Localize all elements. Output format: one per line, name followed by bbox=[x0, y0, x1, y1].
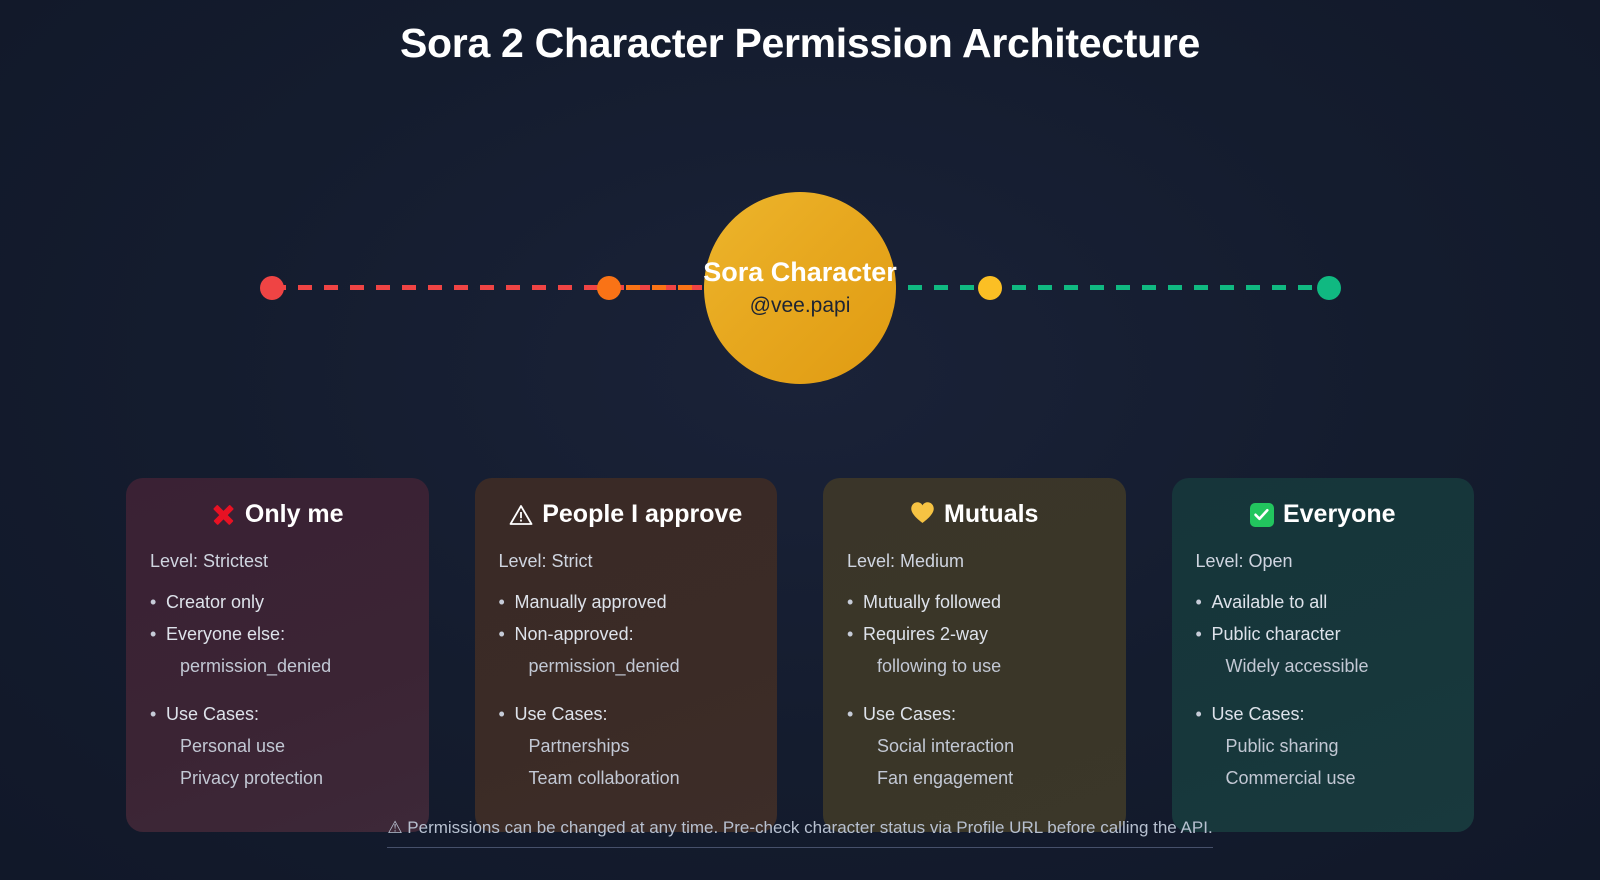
timeline-segment-green bbox=[960, 285, 1332, 290]
warning-triangle-icon bbox=[509, 503, 533, 527]
card-list-item: Personal use bbox=[150, 730, 405, 762]
yellow-heart-icon bbox=[910, 501, 935, 529]
green-check-icon bbox=[1250, 503, 1274, 527]
card-list-item: Team collaboration bbox=[499, 762, 754, 794]
card-list-item: Social interaction bbox=[847, 730, 1102, 762]
card-level: Level: Open bbox=[1196, 551, 1451, 572]
card-list-item: Everyone else: bbox=[150, 618, 405, 650]
card-title: Everyone bbox=[1283, 500, 1396, 529]
card-list-item: Commercial use bbox=[1196, 762, 1451, 794]
card-level: Level: Strictest bbox=[150, 551, 405, 572]
card-list-item: following to use bbox=[847, 650, 1102, 682]
permission-timeline: Sora Character @vee.papi bbox=[0, 0, 1600, 470]
card-feature-list: Creator onlyEveryone else:permission_den… bbox=[150, 586, 405, 794]
card-header: Mutuals bbox=[847, 500, 1102, 529]
permission-card-mutuals[interactable]: MutualsLevel: MediumMutually followedReq… bbox=[823, 478, 1126, 832]
card-header: Everyone bbox=[1196, 500, 1451, 529]
diagram-canvas: Sora 2 Character Permission Architecture… bbox=[0, 0, 1600, 880]
sora-character-orb[interactable]: Sora Character @vee.papi bbox=[704, 192, 896, 384]
card-feature-list: Manually approvedNon-approved:permission… bbox=[499, 586, 754, 794]
permission-card-people-i-approve[interactable]: People I approveLevel: StrictManually ap… bbox=[475, 478, 778, 832]
card-list-item: Creator only bbox=[150, 586, 405, 618]
timeline-node-people-approve[interactable] bbox=[597, 276, 621, 300]
footer-note: ⚠ Permissions can be changed at any time… bbox=[0, 818, 1600, 848]
card-level: Level: Medium bbox=[847, 551, 1102, 572]
permission-card-everyone[interactable]: EveryoneLevel: OpenAvailable to allPubli… bbox=[1172, 478, 1475, 832]
card-list-item: permission_denied bbox=[499, 650, 754, 682]
card-title: Only me bbox=[245, 500, 344, 529]
permission-cards: Only meLevel: StrictestCreator onlyEvery… bbox=[126, 478, 1474, 832]
card-list-item: Fan engagement bbox=[847, 762, 1102, 794]
orb-handle: @vee.papi bbox=[750, 294, 851, 318]
card-list-item: Available to all bbox=[1196, 586, 1451, 618]
card-list-item: Widely accessible bbox=[1196, 650, 1451, 682]
card-header: People I approve bbox=[499, 500, 754, 529]
card-list-item: Mutually followed bbox=[847, 586, 1102, 618]
card-header: Only me bbox=[150, 500, 405, 529]
card-list-item: Manually approved bbox=[499, 586, 754, 618]
card-feature-list: Available to allPublic characterWidely a… bbox=[1196, 586, 1451, 794]
card-list-item: Partnerships bbox=[499, 730, 754, 762]
card-list-item: Non-approved: bbox=[499, 618, 754, 650]
red-x-icon bbox=[211, 502, 236, 527]
timeline-node-only-me[interactable] bbox=[260, 276, 284, 300]
card-level: Level: Strict bbox=[499, 551, 754, 572]
footer-text: ⚠ Permissions can be changed at any time… bbox=[387, 818, 1212, 848]
card-list-item: Use Cases: bbox=[847, 698, 1102, 730]
card-list-item: Requires 2-way bbox=[847, 618, 1102, 650]
card-list-item: permission_denied bbox=[150, 650, 405, 682]
card-list-item: Public character bbox=[1196, 618, 1451, 650]
card-list-item: Use Cases: bbox=[1196, 698, 1451, 730]
permission-card-only-me[interactable]: Only meLevel: StrictestCreator onlyEvery… bbox=[126, 478, 429, 832]
timeline-node-mutuals[interactable] bbox=[978, 276, 1002, 300]
card-feature-list: Mutually followedRequires 2-wayfollowing… bbox=[847, 586, 1102, 794]
card-list-item: Privacy protection bbox=[150, 762, 405, 794]
orb-title: Sora Character bbox=[703, 258, 897, 288]
card-title: People I approve bbox=[542, 500, 742, 529]
timeline-node-everyone[interactable] bbox=[1317, 276, 1341, 300]
card-list-item: Use Cases: bbox=[499, 698, 754, 730]
card-title: Mutuals bbox=[944, 500, 1038, 529]
card-list-item: Public sharing bbox=[1196, 730, 1451, 762]
card-list-item: Use Cases: bbox=[150, 698, 405, 730]
